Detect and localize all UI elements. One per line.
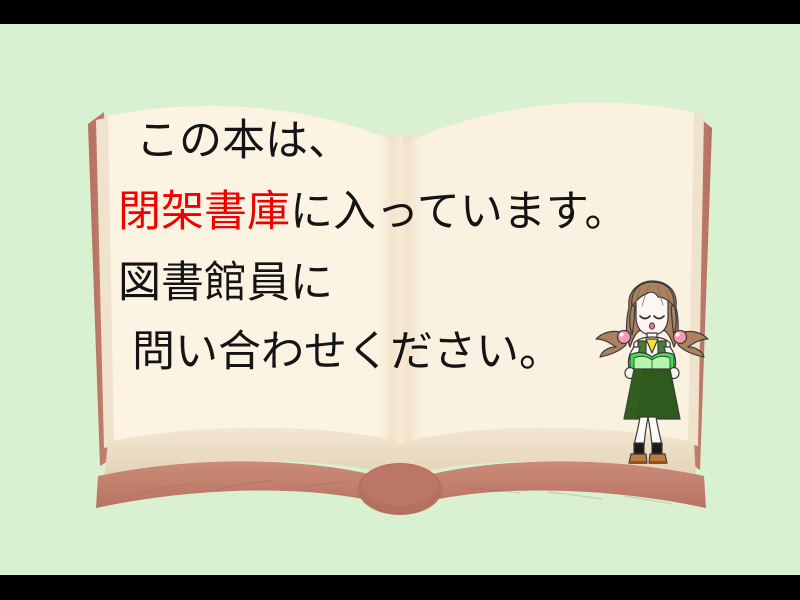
leg-right [648, 417, 662, 445]
leg-left [634, 417, 648, 445]
notice-line-1: この本は、 [136, 120, 688, 163]
background-panel: この本は、 閉架書庫に入っています。 図書館員に 問い合わせください。 [0, 24, 800, 575]
notice-highlight-closed-stacks: 閉架書庫 [118, 187, 290, 237]
notice-line-2: 閉架書庫に入っています。 [118, 191, 688, 234]
book-spine-highlight [362, 464, 438, 506]
notice-line-2-rest: に入っています。 [290, 187, 628, 237]
letterbox-bar-top [0, 0, 800, 24]
scrunchie-right [674, 331, 687, 344]
letterbox-bar-bottom [0, 575, 800, 600]
scrunchie-left [618, 331, 631, 344]
shoe-sole-left [629, 461, 647, 464]
mouth [649, 323, 654, 329]
shoe-sole-right [649, 461, 667, 464]
sock-right [652, 443, 662, 455]
slide-canvas: この本は、 閉架書庫に入っています。 図書館員に 問い合わせください。 [0, 0, 800, 600]
girl-reading-illustration [594, 277, 710, 467]
sock-left [634, 443, 644, 455]
